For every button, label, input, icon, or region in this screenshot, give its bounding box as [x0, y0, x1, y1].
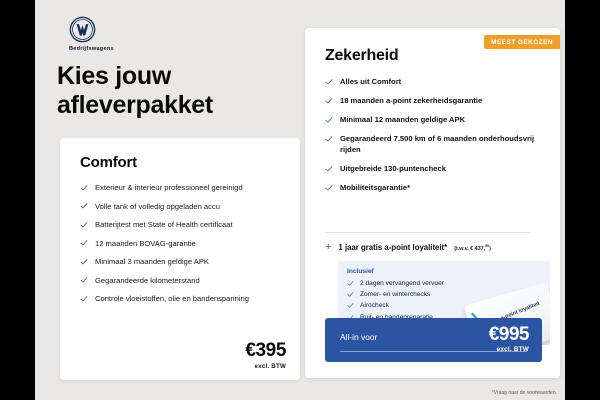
- check-icon: [80, 276, 88, 284]
- list-item: Gegarandeerd 7.500 km of 6 maanden onder…: [325, 133, 540, 155]
- page-title-line-1: Kies jouw: [57, 62, 307, 91]
- check-icon: [325, 165, 333, 173]
- allin-label: All-in voor: [340, 332, 377, 342]
- list-item: 12 maanden BOVAG-garantie: [80, 238, 285, 249]
- list-item: Exterieur & interieur professioneel gere…: [80, 182, 285, 193]
- list-item: Gegarandeerde kilometerstand: [80, 275, 285, 286]
- comfort-price-note: excl. BTW: [245, 363, 286, 370]
- check-icon: [80, 258, 88, 266]
- allin-price-block: €995 excl. BTW: [489, 325, 529, 353]
- check-icon: [80, 184, 88, 192]
- check-icon: [80, 295, 88, 303]
- list-item: Alles uit Comfort: [325, 76, 540, 87]
- list-item: 18 maanden a-point zekerheidsgarantie: [325, 95, 540, 106]
- check-icon: [80, 202, 88, 210]
- zekerheid-feature-list: Alles uit Comfort 18 maanden a-point zek…: [325, 76, 540, 201]
- comfort-price: €395: [245, 340, 286, 362]
- list-item: Volle tank of volledig opgeladen accu: [80, 201, 285, 212]
- check-icon: [80, 221, 88, 229]
- brand-sub-label: Bedrijfswagens: [69, 46, 180, 52]
- letterbox-bar-left: [0, 0, 35, 400]
- inclusief-item-label: 2 dagen vervangend vervoer: [360, 280, 444, 287]
- comfort-package-card[interactable]: Comfort Exterieur & interieur profession…: [60, 138, 300, 380]
- check-icon: [325, 97, 333, 105]
- status-badge: MEEST GEKOZEN: [484, 35, 560, 49]
- list-item: Mobiliteitsgarantie*: [325, 182, 540, 193]
- list-item: Uitgebreide 130-puntencheck: [325, 163, 540, 174]
- footnote: *Vraag naar de voorwaarden.: [492, 390, 557, 396]
- check-icon: [347, 291, 354, 298]
- comfort-title: Comfort: [80, 154, 137, 171]
- zekerheid-price: €995: [489, 325, 529, 344]
- loyalty-addon-value: (t.w.v. € 437,50): [454, 244, 491, 252]
- check-icon: [325, 78, 333, 86]
- comfort-feature-list: Exterieur & interieur professioneel gere…: [80, 182, 285, 312]
- plus-icon: +: [325, 242, 331, 253]
- list-item: 2 dagen vervangend vervoer: [347, 280, 497, 287]
- zekerheid-feature-label: Alles uit Comfort: [340, 76, 401, 87]
- list-item: Controle vloeistoffen, olie en bandenspa…: [80, 293, 285, 304]
- list-item: Batterijtest met State of Health certifi…: [80, 219, 285, 230]
- comfort-feature-label: 12 maanden BOVAG-garantie: [95, 238, 196, 249]
- allin-price-bar[interactable]: All-in voor €995 excl. BTW: [325, 318, 542, 362]
- comfort-feature-label: Controle vloeistoffen, olie en bandenspa…: [95, 293, 249, 304]
- inclusief-item-label: Zomer- en winterchecks: [360, 291, 430, 298]
- comfort-feature-label: Volle tank of volledig opgeladen accu: [95, 201, 220, 212]
- loyalty-addon-row: + 1 jaar gratis a-point loyaliteit* (t.w…: [325, 242, 550, 253]
- ad-canvas: Bedrijfswagens Kies jouw afleverpakket C…: [35, 0, 565, 400]
- zekerheid-package-card[interactable]: MEEST GEKOZEN Zekerheid Alles uit Comfor…: [305, 28, 560, 378]
- check-icon: [325, 135, 333, 143]
- check-icon: [347, 302, 354, 309]
- comfort-feature-label: Gegarandeerde kilometerstand: [95, 275, 200, 286]
- zekerheid-feature-label: Gegarandeerd 7.500 km of 6 maanden onder…: [340, 133, 540, 155]
- list-item: Zomer- en winterchecks: [347, 291, 497, 298]
- comfort-feature-label: Minimaal 3 maanden geldige APK: [95, 256, 209, 267]
- zekerheid-price-note: excl. BTW: [489, 346, 529, 353]
- zekerheid-feature-label: Mobiliteitsgarantie*: [340, 182, 410, 193]
- zekerheid-feature-label: Minimaal 12 maanden geldige APK: [340, 114, 465, 125]
- list-item: Minimaal 3 maanden geldige APK: [80, 256, 285, 267]
- divider: [325, 232, 530, 233]
- zekerheid-title: Zekerheid: [325, 47, 398, 65]
- comfort-feature-label: Exterieur & interieur professioneel gere…: [95, 182, 243, 193]
- inclusief-item-label: Airocheck: [360, 302, 389, 309]
- check-icon: [325, 184, 333, 192]
- check-icon: [325, 116, 333, 124]
- brand-block: Bedrijfswagens: [60, 16, 180, 52]
- letterbox-bar-right: [565, 0, 600, 400]
- vw-logo-icon: [69, 16, 96, 43]
- loyalty-addon-label: 1 jaar gratis a-point loyaliteit*: [338, 243, 447, 252]
- check-icon: [80, 239, 88, 247]
- inclusief-title: Inclusief: [347, 268, 374, 275]
- zekerheid-feature-label: Uitgebreide 130-puntencheck: [340, 163, 446, 174]
- comfort-price-block: €395 excl. BTW: [245, 340, 286, 370]
- check-icon: [347, 280, 354, 287]
- zekerheid-feature-label: 18 maanden a-point zekerheidsgarantie: [340, 95, 482, 106]
- page-title-line-2: afleverpakket: [57, 91, 307, 120]
- page-title: Kies jouw afleverpakket: [57, 62, 307, 120]
- screenshot-stage: Bedrijfswagens Kies jouw afleverpakket C…: [0, 0, 600, 400]
- comfort-feature-label: Batterijtest met State of Health certifi…: [95, 219, 233, 230]
- list-item: Minimaal 12 maanden geldige APK: [325, 114, 540, 125]
